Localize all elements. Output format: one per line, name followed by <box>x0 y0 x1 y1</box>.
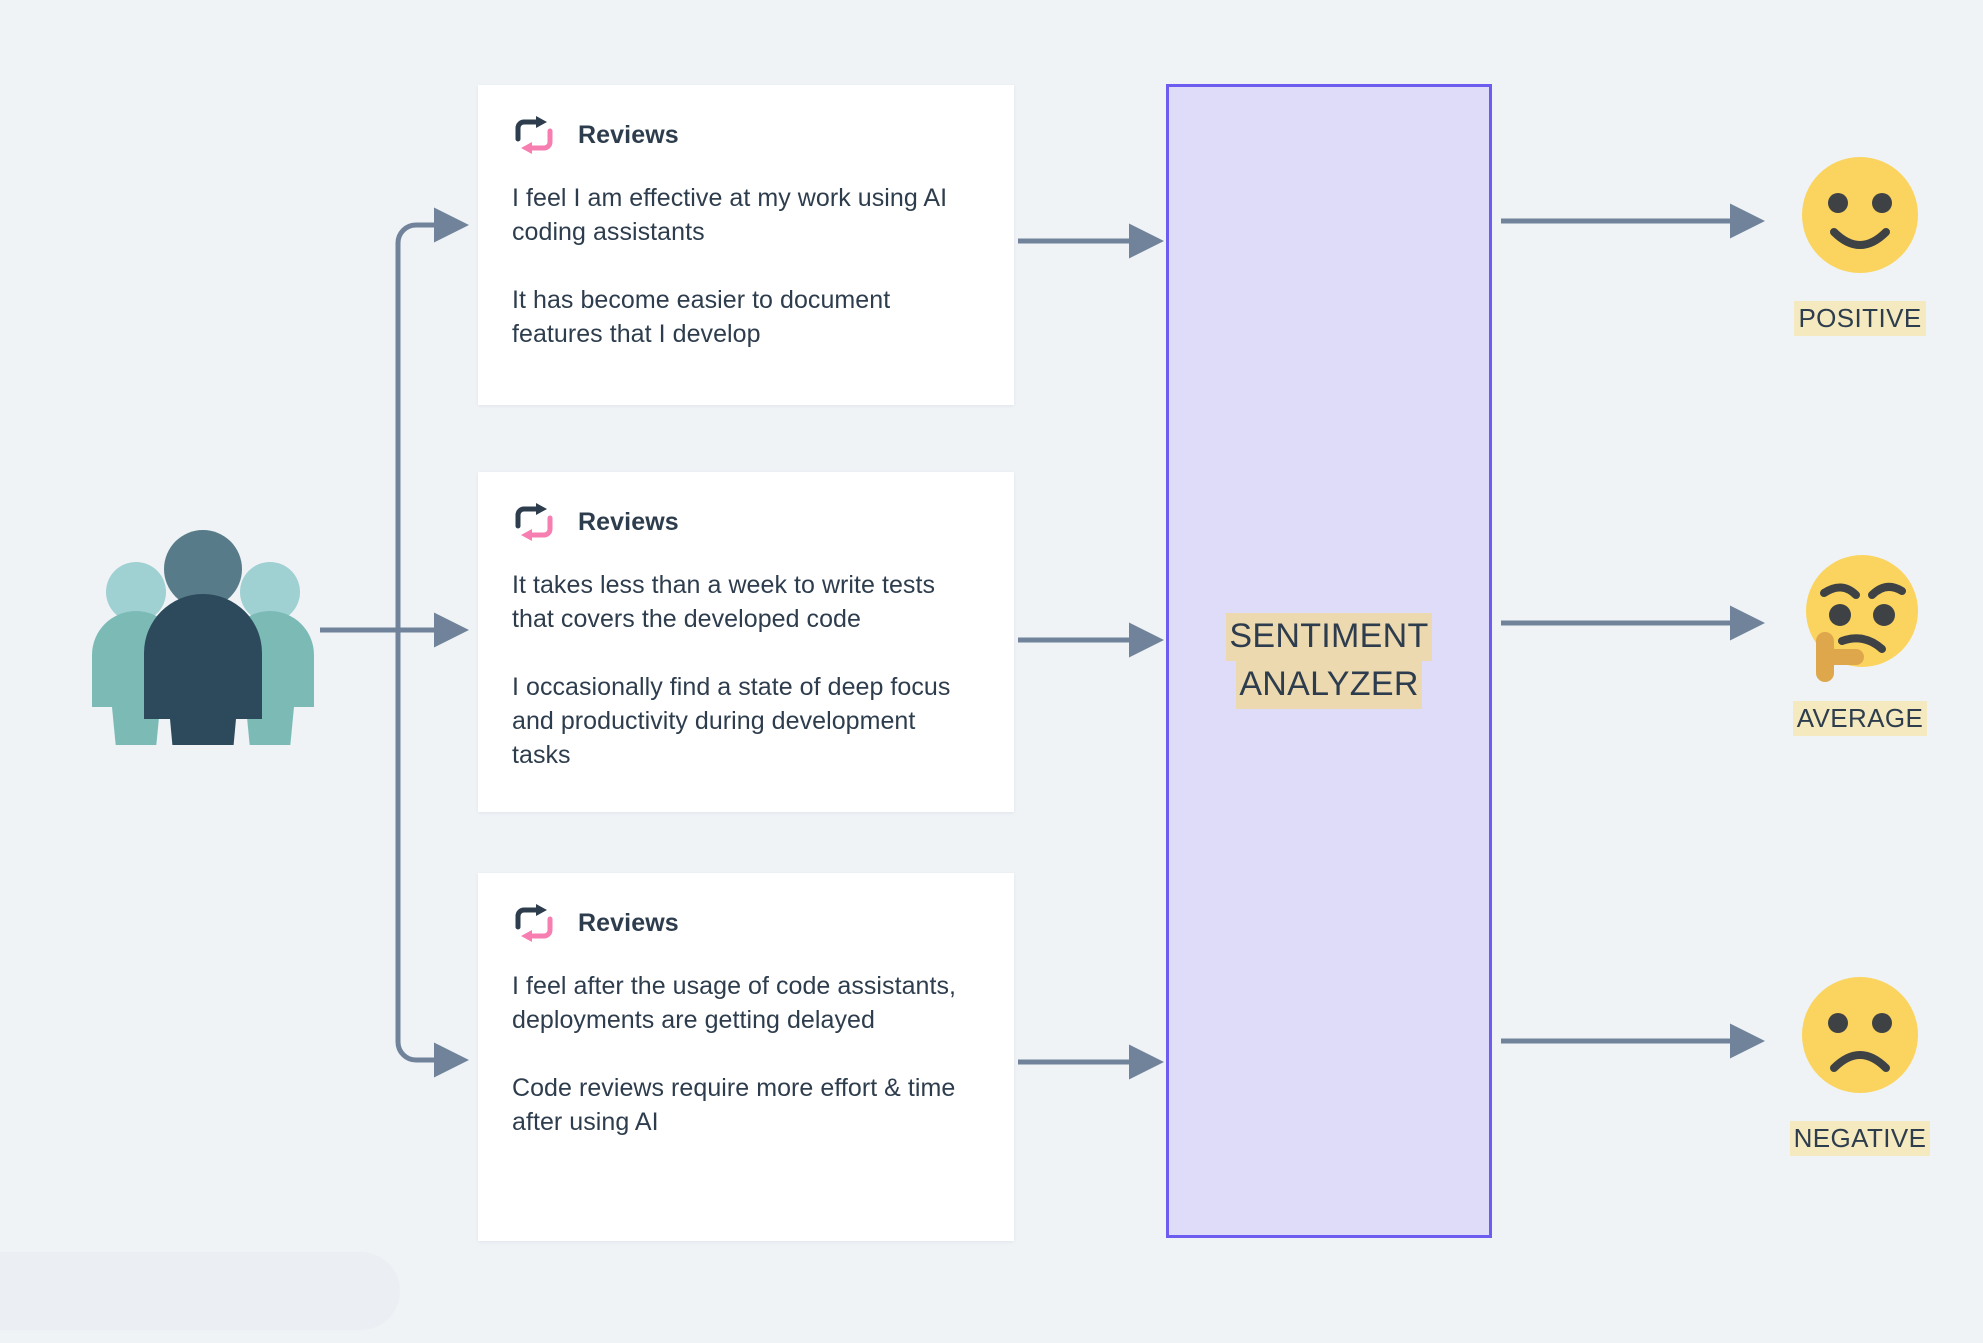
status-badge: POSITIVE <box>1794 301 1925 336</box>
status-badge: NEGATIVE <box>1790 1121 1931 1156</box>
review-text: It has become easier to document feature… <box>512 283 980 351</box>
card-title: Reviews <box>578 508 679 537</box>
analyzer-label-line1: SENTIMENT <box>1226 613 1431 661</box>
card-header: Reviews <box>512 502 980 542</box>
review-text: I feel after the usage of code assistant… <box>512 969 980 1037</box>
outcome-average: AVERAGE <box>1760 545 1960 736</box>
sentiment-analyzer-box[interactable]: SENTIMENT ANALYZER <box>1166 84 1492 1238</box>
review-card[interactable]: Reviews I feel I am effective at my work… <box>478 85 1014 405</box>
background-artifact <box>0 1252 400 1330</box>
repeat-icon <box>512 903 556 943</box>
frowning-face-icon <box>1790 965 1930 1105</box>
people-group-icon <box>78 495 328 745</box>
repeat-icon <box>512 115 556 155</box>
thinking-face-icon <box>1790 545 1930 685</box>
card-body: It takes less than a week to write tests… <box>512 568 980 772</box>
card-title: Reviews <box>578 909 679 938</box>
card-header: Reviews <box>512 903 980 943</box>
review-text: It takes less than a week to write tests… <box>512 568 980 636</box>
outcome-negative: NEGATIVE <box>1760 965 1960 1156</box>
smiling-face-icon <box>1790 145 1930 285</box>
card-header: Reviews <box>512 115 980 155</box>
review-text: I feel I am effective at my work using A… <box>512 181 980 249</box>
card-title: Reviews <box>578 121 679 150</box>
analyzer-label-line2: ANALYZER <box>1236 661 1421 709</box>
card-body: I feel I am effective at my work using A… <box>512 181 980 351</box>
card-body: I feel after the usage of code assistant… <box>512 969 980 1139</box>
review-card[interactable]: Reviews I feel after the usage of code a… <box>478 873 1014 1241</box>
review-text: Code reviews require more effort & time … <box>512 1071 980 1139</box>
analyzer-label: SENTIMENT ANALYZER <box>1226 613 1431 708</box>
repeat-icon <box>512 502 556 542</box>
diagram-canvas: Reviews I feel I am effective at my work… <box>0 0 1983 1343</box>
review-text: I occasionally find a state of deep focu… <box>512 670 980 772</box>
outcome-positive: POSITIVE <box>1760 145 1960 336</box>
review-card[interactable]: Reviews It takes less than a week to wri… <box>478 472 1014 812</box>
status-badge: AVERAGE <box>1793 701 1928 736</box>
